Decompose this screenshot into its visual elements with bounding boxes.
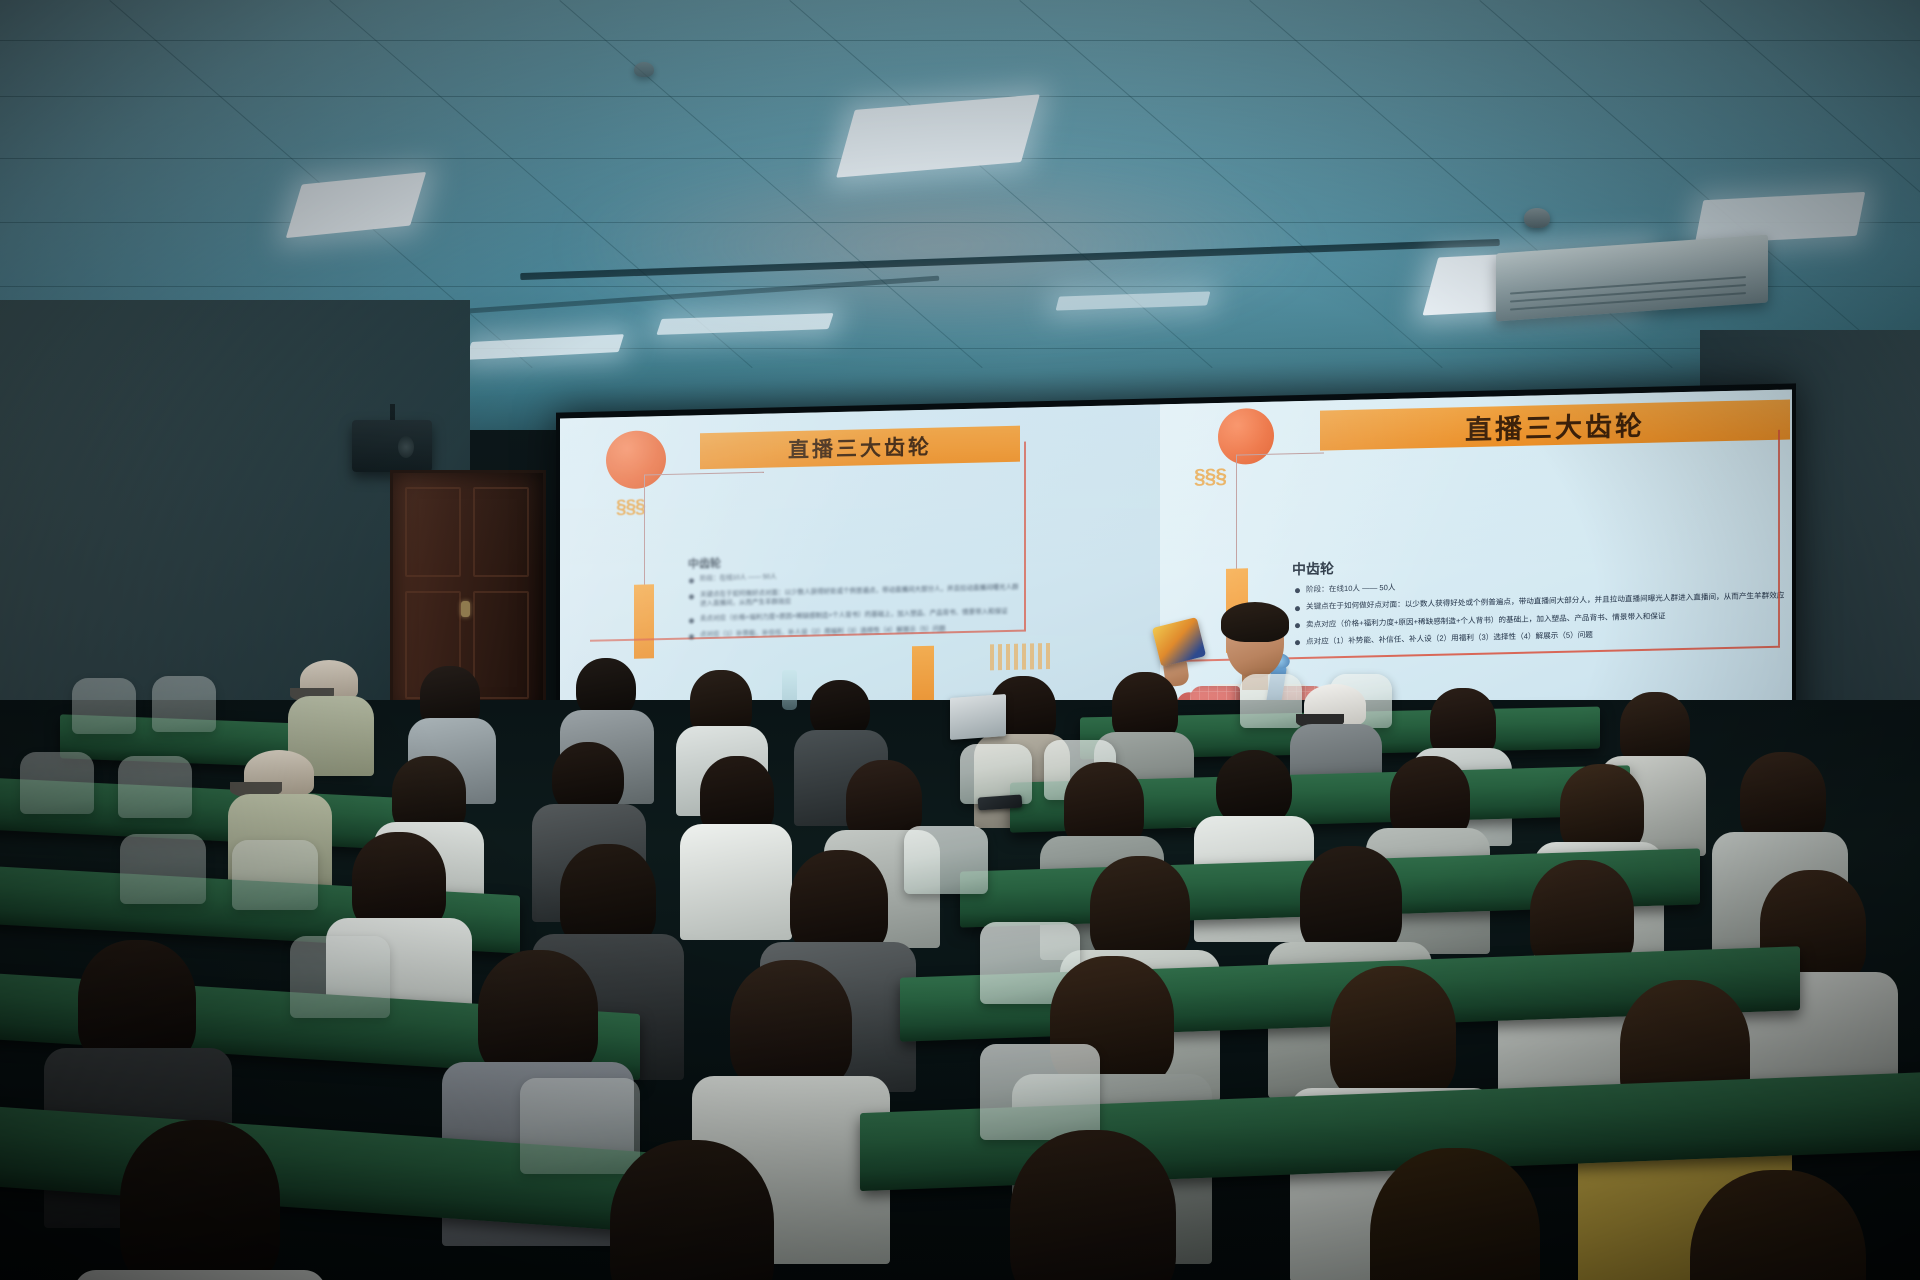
decor-squiggle: §§§	[616, 501, 645, 515]
slide-title: 直播三大齿轮	[1465, 403, 1645, 446]
decor-circle	[1218, 408, 1274, 465]
hair	[1300, 846, 1402, 956]
hair	[1090, 856, 1190, 964]
decor-squiggle: §§§	[1194, 469, 1226, 485]
list-item: 关键点在于如何做好点对面：以少数人获得好处或个例普遍点，带动直播间大部分人，并且…	[700, 583, 1020, 608]
chair	[1240, 674, 1302, 728]
hair	[1330, 966, 1456, 1102]
chair	[290, 936, 390, 1018]
wall-speaker	[352, 420, 432, 472]
chair	[120, 834, 206, 904]
slide-bullet-list: 阶段：在线10人 —— 50人 关键点在于如何做好点对面：以少数人获得好处或个例…	[700, 568, 1020, 647]
chair	[520, 1078, 640, 1174]
hair	[790, 850, 888, 956]
hair	[120, 1120, 280, 1280]
list-item: 点对应（1）补势能、补信任、补人设（2）用福利（3）选择性（4）解展示（5）问题	[1306, 625, 1786, 647]
speaker-cone-icon	[398, 436, 414, 458]
chair	[72, 678, 136, 734]
door-panel	[405, 487, 461, 577]
ceiling-projector-haze	[560, 150, 1320, 340]
chair	[980, 1044, 1100, 1140]
chair	[118, 756, 192, 818]
slide-title: 直播三大齿轮	[788, 431, 932, 464]
held-product-package	[1152, 617, 1206, 667]
door-panel	[473, 487, 529, 577]
smoke-detector	[1524, 208, 1550, 228]
chair	[904, 826, 988, 894]
slide-heading: 中齿轮	[688, 555, 721, 572]
ceiling-grid-line	[0, 222, 1920, 223]
decor-hatch	[990, 643, 1050, 670]
ceiling-panel-light	[1695, 192, 1866, 244]
list-item: 卖点对应（价格+福利力度+原因+稀缺感制造+个人背书）的基础上，加入塑品、产品背…	[700, 608, 1020, 624]
torso	[680, 824, 792, 940]
hair	[1740, 752, 1826, 844]
hair	[352, 832, 446, 932]
hair	[1560, 764, 1644, 854]
water-bottle	[782, 670, 797, 710]
hair	[610, 1140, 774, 1280]
hair	[1620, 692, 1690, 766]
smoke-detector	[634, 62, 654, 77]
connector-line	[1236, 455, 1237, 573]
chair	[20, 752, 94, 814]
slide-bullet-list: 阶段：在线10人 —— 50人 关键点在于如何做好点对面：以少数人获得好处或个例…	[1306, 574, 1786, 654]
door-knob[interactable]	[461, 601, 470, 617]
hair	[730, 960, 852, 1090]
decor-circle	[606, 430, 666, 489]
ceiling-grid-line	[0, 40, 1920, 41]
red-accent-line	[1778, 430, 1780, 646]
list-item: 阶段：在线10人 —— 50人	[700, 568, 1020, 584]
hair	[1010, 1130, 1176, 1280]
connector-line	[644, 475, 645, 587]
chair	[152, 676, 216, 732]
gear-bar	[912, 646, 934, 707]
audience-area	[0, 700, 1920, 1280]
laptop[interactable]	[950, 694, 1006, 740]
list-item: 点对应（1）补势能、补信任、补人设（2）用福利（3）选择性（4）解展示（5）问题	[700, 624, 1020, 640]
lecture-hall-photo: §§§ 直播三大齿轮 中齿轮 阶段：在线10人 —— 50人 关键点在于如何做好…	[0, 0, 1920, 1280]
red-accent-line	[1024, 442, 1026, 632]
hair	[478, 950, 598, 1078]
gear-bar	[634, 584, 654, 658]
hair	[560, 844, 656, 948]
presenter-hair	[1221, 602, 1289, 642]
torso	[74, 1270, 326, 1280]
slide-title-banner: 直播三大齿轮	[700, 426, 1020, 470]
slide-heading: 中齿轮	[1292, 558, 1334, 579]
chair	[232, 840, 318, 910]
slide-title-banner: 直播三大齿轮	[1320, 400, 1790, 451]
door-panel	[473, 591, 529, 699]
ceiling-grid-line	[0, 96, 1920, 97]
